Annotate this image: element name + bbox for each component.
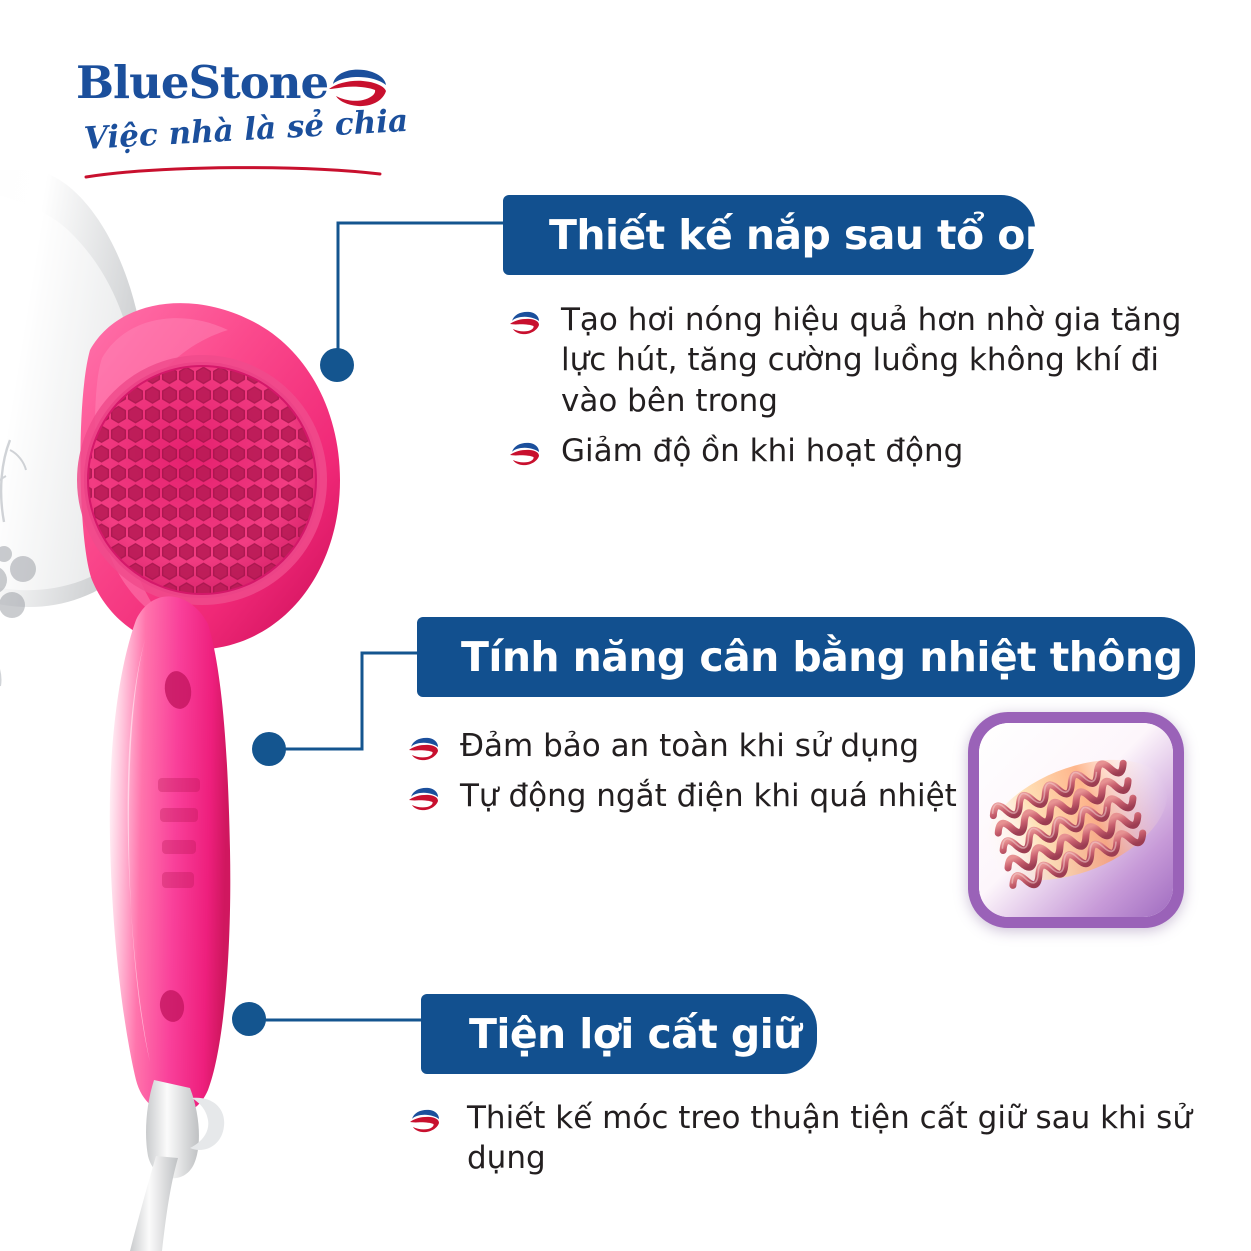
list-item-text: Tự động ngắt điện khi quá nhiệt (460, 776, 957, 816)
list-item-text: Giảm độ ồn khi hoạt động (561, 431, 963, 471)
bluestone-bullet-icon (408, 737, 438, 763)
section-heading-banner-1: Thiết kế nắp sau tổ ong (503, 195, 1035, 275)
infographic-canvas: BlueStone Việc nhà là sẻ chia (0, 0, 1251, 1251)
list-item-text: Đảm bảo an toàn khi sử dụng (460, 726, 919, 766)
section-heading-banner-2: Tính năng cân bằng nhiệt thông minh (417, 617, 1195, 697)
list-item: Tự động ngắt điện khi quá nhiệt (408, 776, 968, 816)
section-heading-banner-3: Tiện lợi cất giữ (421, 994, 817, 1074)
connector-line-section-3 (258, 1012, 433, 1028)
section-heading-text-2: Tính năng cân bằng nhiệt thông minh (461, 633, 1251, 681)
hotspot-dot-section-2 (252, 732, 286, 766)
bluestone-bullet-icon (509, 442, 539, 468)
bluestone-swoosh-icon (325, 68, 387, 108)
hotspot-dot-section-3 (232, 1002, 266, 1036)
bluestone-bullet-icon (408, 787, 438, 813)
hotspot-dot-section-1 (320, 348, 354, 382)
list-item-text: Thiết kế móc treo thuận tiện cất giữ sau… (467, 1098, 1199, 1179)
brand-tagline-text: Việc nhà là sẻ chia (83, 107, 394, 155)
section-bullets-2: Đảm bảo an toàn khi sử dụng Tự động ngắt… (408, 726, 968, 827)
connector-line-section-1 (330, 215, 520, 375)
bluestone-bullet-icon (509, 311, 539, 337)
section-bullets-3: Thiết kế móc treo thuận tiện cất giữ sau… (409, 1098, 1199, 1189)
heating-coil-card (968, 712, 1184, 928)
list-item: Đảm bảo an toàn khi sử dụng (408, 726, 968, 766)
bluestone-bullet-icon (409, 1109, 439, 1135)
list-item: Giảm độ ồn khi hoạt động (509, 431, 1199, 471)
heating-coil-image (979, 723, 1173, 917)
brand-wordmark: BlueStone (76, 60, 328, 105)
section-heading-text-1: Thiết kế nắp sau tổ ong (549, 211, 1082, 259)
section-heading-text-3: Tiện lợi cất giữ (469, 1010, 802, 1058)
list-item: Tạo hơi nóng hiệu quả hơn nhờ gia tăng l… (509, 300, 1199, 421)
list-item-text: Tạo hơi nóng hiệu quả hơn nhờ gia tăng l… (561, 300, 1199, 421)
list-item: Thiết kế móc treo thuận tiện cất giữ sau… (409, 1098, 1199, 1179)
section-bullets-1: Tạo hơi nóng hiệu quả hơn nhờ gia tăng l… (509, 300, 1199, 481)
